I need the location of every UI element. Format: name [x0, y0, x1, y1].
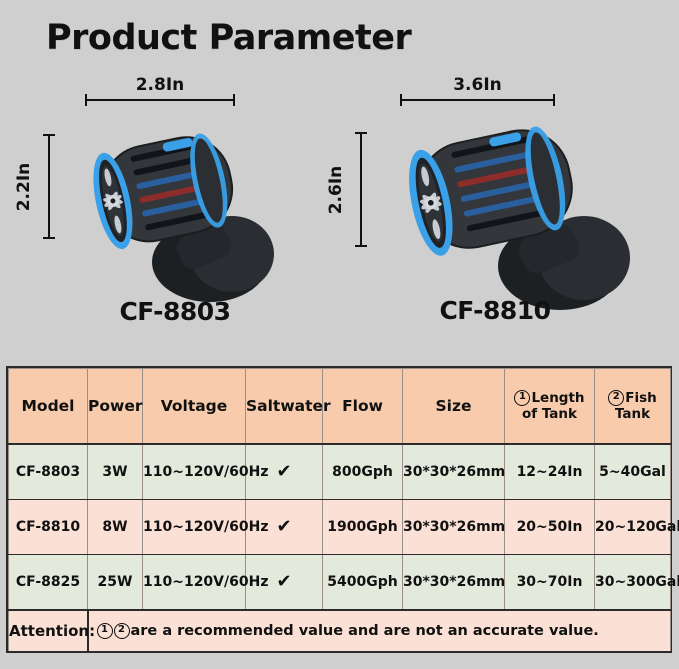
parameter-table: Model Power Voltage Saltwater Flow Size …	[6, 366, 672, 653]
model-label-cf8803: CF-8803	[30, 297, 320, 326]
cell-flow: 800Gph	[323, 444, 403, 500]
cell-model: CF-8810	[9, 500, 88, 555]
cell-power: 8W	[88, 500, 143, 555]
cell-fish-tank: 20~120Gal	[595, 500, 671, 555]
cell-power: 3W	[88, 444, 143, 500]
cell-size: 30*30*26mm	[403, 555, 505, 611]
attention-text: 12are a recommended value and are not an…	[88, 610, 671, 651]
attention-message: are a recommended value and are not an a…	[131, 623, 599, 639]
height-dimension-label: 2.2In	[14, 162, 34, 211]
table-header-row: Model Power Voltage Saltwater Flow Size …	[9, 369, 671, 445]
circled-number-two-icon: 2	[114, 623, 130, 639]
page-title: Product Parameter	[46, 18, 411, 58]
cell-voltage: 110~120V/60Hz	[143, 500, 246, 555]
table-row: CF-8825 25W 110~120V/60Hz ✔ 5400Gph 30*3…	[9, 555, 671, 611]
attention-row: Attention: 12are a recommended value and…	[9, 610, 671, 651]
pump-illustration-cf8810	[372, 118, 657, 313]
cell-size: 30*30*26mm	[403, 500, 505, 555]
dimension-line	[48, 134, 50, 239]
cell-length-of-tank: 30~70In	[505, 555, 595, 611]
column-header-fish-tank: 2Fish Tank	[595, 369, 671, 445]
column-header-model: Model	[9, 369, 88, 445]
pump-illustration-cf8803	[60, 122, 320, 302]
dimension-line	[400, 99, 555, 101]
cell-model: CF-8803	[9, 444, 88, 500]
cell-power: 25W	[88, 555, 143, 611]
dimension-endcap-right	[233, 94, 235, 106]
column-header-saltwater: Saltwater	[246, 369, 323, 445]
product-cf8810: 3.6In 2.6In	[330, 56, 660, 352]
specs-table: Model Power Voltage Saltwater Flow Size …	[8, 368, 671, 651]
cell-size: 30*30*26mm	[403, 444, 505, 500]
dimension-endcap-left	[85, 94, 87, 106]
dimension-line	[360, 132, 362, 247]
product-images: 2.8In 2.2In	[0, 62, 679, 352]
cell-model: CF-8825	[9, 555, 88, 611]
dimension-line	[85, 99, 235, 101]
dimension-endcap-right	[553, 94, 555, 106]
cell-voltage: 110~120V/60Hz	[143, 444, 246, 500]
circled-number-two-icon: 2	[608, 390, 624, 406]
cell-flow: 5400Gph	[323, 555, 403, 611]
circled-number-one-icon: 1	[97, 623, 113, 639]
dimension-endcap-left	[400, 94, 402, 106]
height-dimension-label: 2.6In	[326, 165, 346, 214]
cell-length-of-tank: 12~24In	[505, 444, 595, 500]
column-header-voltage: Voltage	[143, 369, 246, 445]
cell-fish-tank: 30~300Gal	[595, 555, 671, 611]
attention-label: Attention:	[9, 610, 88, 651]
column-header-flow: Flow	[323, 369, 403, 445]
column-header-length-of-tank-label: Length of Tank	[522, 390, 585, 422]
cell-fish-tank: 5~40Gal	[595, 444, 671, 500]
column-header-power: Power	[88, 369, 143, 445]
column-header-size: Size	[403, 369, 505, 445]
width-dimension-label: 3.6In	[400, 75, 555, 95]
product-cf8803: 2.8In 2.2In	[30, 62, 320, 352]
dimension-endcap-top	[43, 134, 55, 136]
table-row: CF-8810 8W 110~120V/60Hz ✔ 1900Gph 30*30…	[9, 500, 671, 555]
table-row: CF-8803 3W 110~120V/60Hz ✔ 800Gph 30*30*…	[9, 444, 671, 500]
cell-flow: 1900Gph	[323, 500, 403, 555]
dimension-endcap-top	[355, 132, 367, 134]
column-header-length-of-tank: 1Length of Tank	[505, 369, 595, 445]
circled-number-one-icon: 1	[514, 390, 530, 406]
cell-length-of-tank: 20~50In	[505, 500, 595, 555]
width-dimension-label: 2.8In	[85, 75, 235, 95]
model-label-cf8810: CF-8810	[330, 296, 660, 325]
cell-voltage: 110~120V/60Hz	[143, 555, 246, 611]
dimension-endcap-bottom	[355, 245, 367, 247]
dimension-endcap-bottom	[43, 237, 55, 239]
